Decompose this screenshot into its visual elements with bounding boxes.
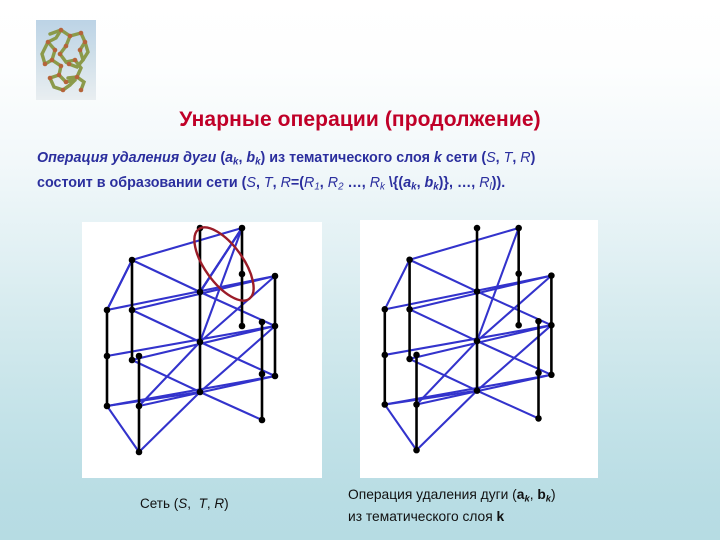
figure-caption-left: Сеть (S, T, R) xyxy=(140,495,229,513)
definition-seti: сети ( xyxy=(442,150,486,166)
caption-right-line2: из тематического слоя xyxy=(348,509,497,524)
definition-lead: Операция удаления дуги xyxy=(37,150,220,166)
caption-left-S: S xyxy=(178,496,187,511)
definition-line2-lead: состоит в образовании сети ( xyxy=(37,175,246,191)
def-var-b: bk xyxy=(246,150,260,166)
caption-right-line1: Операция удаления дуги ( xyxy=(348,487,517,502)
caption-left-R: R xyxy=(214,496,224,511)
definition-mid: из тематического слоя xyxy=(265,150,434,166)
caption-left-T: T xyxy=(199,496,207,511)
caption-left-prefix: Сеть ( xyxy=(140,496,178,511)
network-diagram-right xyxy=(360,220,598,478)
def-var-S: S xyxy=(486,150,496,166)
figure-panel-left xyxy=(82,222,322,478)
molecular-network-thumbnail xyxy=(36,20,96,100)
figure-panel-right xyxy=(360,220,598,478)
figure-caption-right: Операция удаления дуги (ak, bk) из темат… xyxy=(348,486,556,526)
deleted-arc-highlight-ellipse xyxy=(183,222,264,310)
slide-title: Унарные операции (продолжение) xyxy=(0,108,720,132)
network-diagram-left xyxy=(82,222,322,478)
def-var-k: k xyxy=(434,150,442,166)
definition-paragraph: Операция удаления дуги (ak, bk) из темат… xyxy=(37,148,687,197)
molecule-graphic xyxy=(36,20,96,100)
slide-root: Унарные операции (продолжение) Операция … xyxy=(0,0,720,540)
caption-left-suffix: ) xyxy=(224,496,229,511)
def-var-a: ak xyxy=(225,150,238,166)
caption-right-k: k xyxy=(497,509,505,524)
def-var-R: R xyxy=(520,150,530,166)
